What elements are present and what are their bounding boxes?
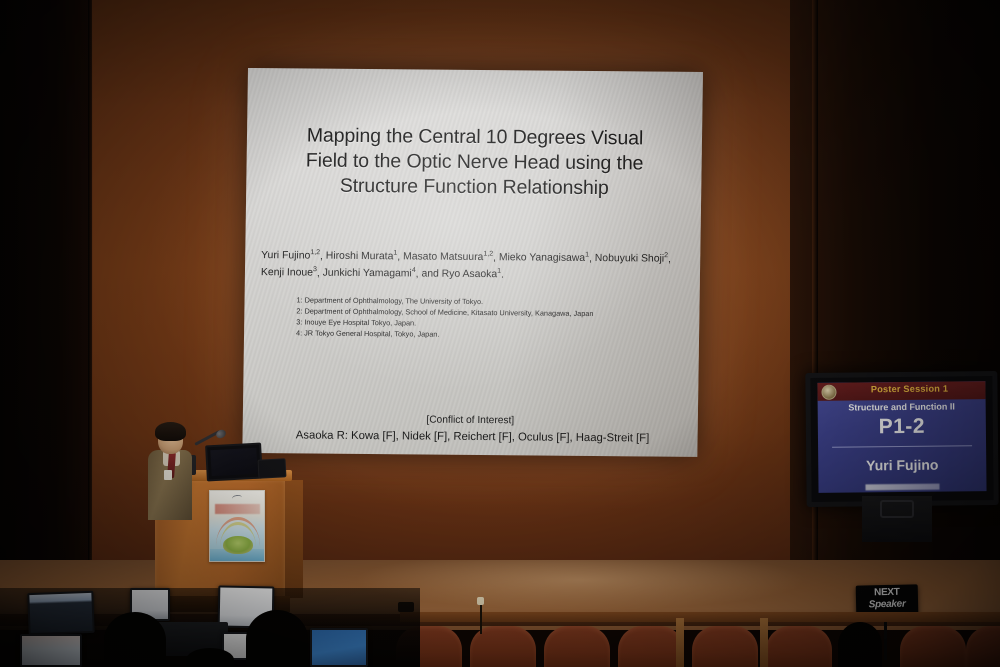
av-operator-silhouette: [104, 612, 166, 667]
podium-confidence-monitor: [205, 443, 263, 482]
poster-island: [223, 536, 253, 554]
next-speaker-line-1: NEXT: [856, 586, 918, 598]
author-affiliation-marker: 1: [497, 268, 501, 275]
author-affiliation-marker: 1: [585, 252, 589, 259]
bird-icon: [232, 494, 243, 501]
next-speaker-sign: NEXT Speaker: [856, 584, 919, 615]
affiliation-item: 4: JR Tokyo General Hospital, Tokyo, Jap…: [296, 328, 686, 342]
author-affiliation-marker: 4: [412, 267, 416, 274]
conflict-of-interest-body: Asaoka R: Kowa [F], Nidek [F], Reichert …: [248, 429, 696, 445]
audience-seat: [618, 626, 684, 667]
presenter-name-badge: [164, 470, 172, 480]
author-name: Yuri Fujino1,2: [261, 251, 320, 263]
av-laptop-screen: [312, 630, 366, 665]
author-affiliation-marker: 3: [313, 266, 317, 273]
author-affiliation-marker: 1: [393, 250, 397, 257]
author-name: Hiroshi Murata1: [326, 251, 398, 263]
slide-title-line-1: Mapping the Central 10 Degrees Visual: [275, 123, 675, 152]
author-affiliation-marker: 2: [664, 253, 668, 260]
author-name: Kenji Inoue3: [261, 267, 317, 278]
slide-title-line-2: Field to the Optic Nerve Head using the: [274, 148, 674, 177]
monitor-session-label: Poster Session 1: [837, 383, 981, 395]
monitor-footer-banner: [865, 483, 939, 490]
next-speaker-line-2: Speaker: [856, 598, 918, 610]
av-operator-silhouette: [246, 610, 308, 667]
author-name: Nobuyuki Shoji2: [595, 253, 668, 265]
podium-secondary-display: [258, 458, 287, 478]
session-monitor-screen: Poster Session 1 Structure and Function …: [817, 381, 986, 493]
monitor-presenter-name: Yuri Fujino: [818, 456, 986, 474]
author-name: and Ryo Asaoka1: [421, 269, 501, 281]
monitor-poster-code: P1-2: [818, 414, 986, 440]
author-affiliation-marker: 1,2: [310, 250, 320, 257]
seat-row-rail: [400, 612, 1000, 622]
audience-seat: [900, 626, 966, 667]
audience-member-silhouette: [838, 622, 882, 667]
av-laptop-screen: [29, 593, 92, 633]
author-name: Mieko Yanagisawa1: [499, 253, 589, 265]
left-wall-dark: [0, 0, 92, 600]
audience-seat: [692, 626, 758, 667]
monitor-divider: [832, 445, 972, 447]
conference-poster: [209, 490, 265, 562]
auditorium-scene: Mapping the Central 10 Degrees Visual Fi…: [0, 0, 1000, 667]
poster-title-block: [215, 504, 260, 514]
av-laptop-screen: [22, 636, 80, 665]
av-operator-silhouette: [186, 648, 234, 667]
monitor-subtitle-label: Structure and Function II: [818, 401, 986, 413]
projection-screen: Mapping the Central 10 Degrees Visual Fi…: [242, 68, 703, 457]
slide-author-list: Yuri Fujino1,2, Hiroshi Murata1, Masato …: [261, 248, 689, 285]
podium-monitor-screen: [210, 448, 257, 476]
av-laptop: [310, 628, 368, 667]
conflict-of-interest-heading: [Conflict of Interest]: [243, 413, 698, 428]
audience-seat: [544, 626, 610, 667]
stage-microphone-head-icon: [477, 597, 484, 605]
slide-affiliations: 1: Department of Ophthalmology, The Univ…: [296, 294, 687, 342]
author-name: Junkichi Yamagami4: [323, 268, 416, 280]
author-affiliation-marker: 1,2: [483, 251, 493, 258]
stage-microphone-stand: [480, 600, 482, 634]
audience-seat: [966, 626, 1000, 667]
seat-row-divider: [676, 618, 684, 667]
seat-row-divider: [760, 618, 768, 667]
av-laptop: [20, 634, 82, 667]
presenter-hair: [155, 422, 186, 441]
slide-title: Mapping the Central 10 Degrees Visual Fi…: [274, 123, 675, 202]
monitor-arm: [880, 500, 914, 518]
author-name: Masato Matsuura1,2: [403, 252, 493, 264]
presentation-slide: Mapping the Central 10 Degrees Visual Fi…: [242, 68, 703, 457]
av-laptop: [27, 591, 94, 635]
monitor-footer: [818, 481, 986, 492]
session-monitor: Poster Session 1 Structure and Function …: [805, 371, 998, 507]
slide-title-line-3: Structure Function Relationship: [274, 174, 674, 203]
audience-seat: [766, 626, 832, 667]
conference-logo-icon: [821, 385, 836, 400]
wall-seam-left: [88, 0, 93, 600]
